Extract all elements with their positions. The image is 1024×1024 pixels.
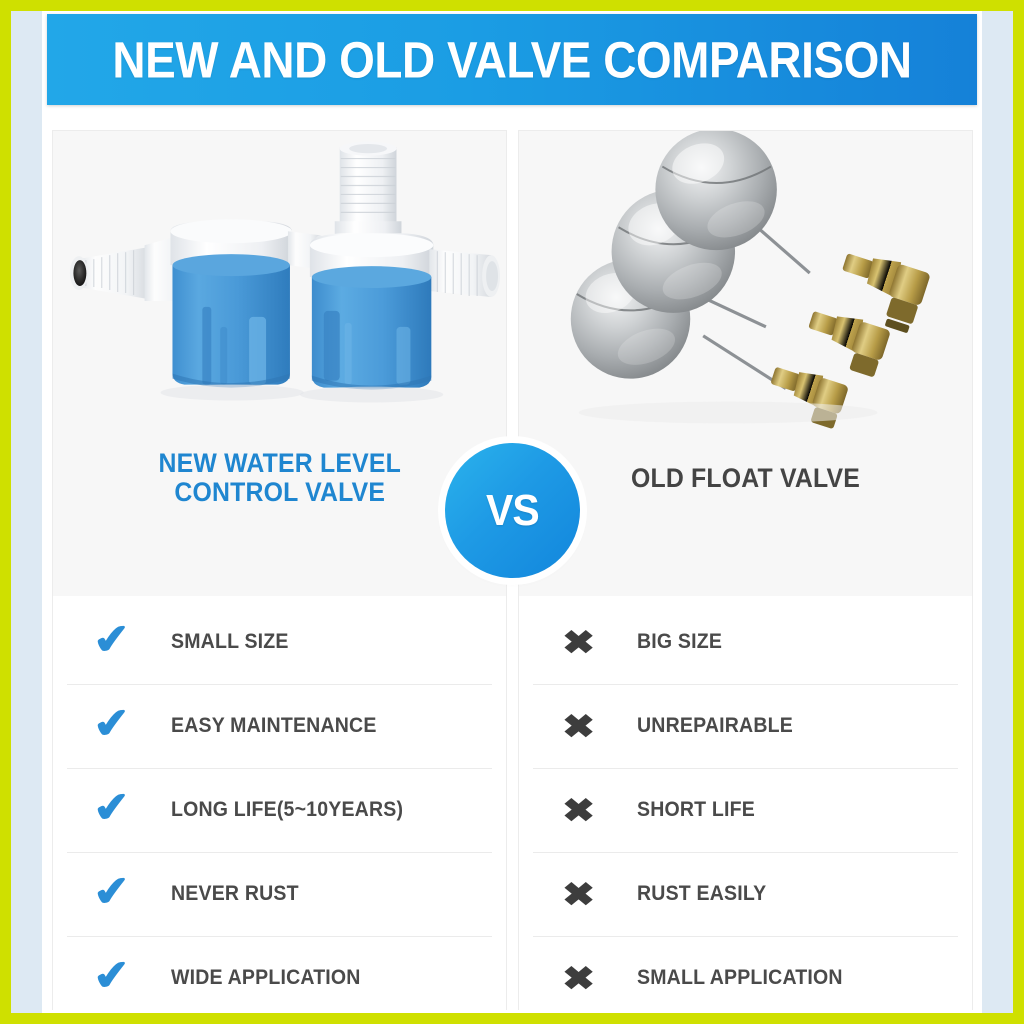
feature-row: ✔ NEVER RUST — [53, 852, 506, 936]
page-title-text: NEW AND OLD VALVE COMPARISON — [112, 34, 911, 85]
feature-row: ✔ WIDE APPLICATION — [53, 936, 506, 1010]
cross-icon: ✖ — [518, 878, 654, 911]
feature-label: SHORT LIFE — [637, 798, 764, 822]
panel-old-valve: OLD FLOAT VALVE ✖ BIG SIZE ✖ UNREPAIRABL… — [518, 130, 973, 1010]
cross-icon: ✖ — [518, 626, 654, 659]
valve-left — [70, 219, 327, 400]
new-valve-product-image — [53, 131, 506, 451]
inlet-opening — [73, 260, 86, 286]
feature-label: SMALL APPLICATION — [637, 966, 858, 990]
cross-icon: ✖ — [518, 794, 654, 827]
valve-right — [300, 142, 500, 403]
feature-label-text: SHORT LIFE — [637, 798, 755, 822]
feature-label-text: NEVER RUST — [171, 882, 299, 906]
feature-row: ✔ SMALL SIZE — [53, 600, 506, 684]
brass-valve-body — [800, 304, 892, 378]
old-valve-image-area — [519, 131, 972, 596]
check-icon: ✔ — [52, 865, 180, 919]
vs-badge-text: VS — [486, 486, 539, 536]
feature-label: EASY MAINTENANCE — [171, 714, 392, 738]
feature-row: ✔ EASY MAINTENANCE — [53, 684, 506, 768]
feature-row: ✖ BIG SIZE — [519, 600, 972, 684]
feature-label: LONG LIFE(5~10YEARS) — [171, 798, 421, 822]
cross-icon: ✖ — [518, 962, 654, 995]
check-icon: ✔ — [52, 781, 180, 835]
feature-label-text: RUST EASILY — [637, 882, 766, 906]
page-title: NEW AND OLD VALVE COMPARISON — [47, 34, 977, 85]
old-valve-product-image — [519, 131, 972, 451]
new-valve-label: NEW WATER LEVEL CONTROL VALVE — [53, 449, 506, 506]
feature-label: SMALL SIZE — [171, 630, 297, 654]
feature-label-text: WIDE APPLICATION — [171, 966, 361, 990]
feature-row: ✖ RUST EASILY — [519, 852, 972, 936]
feature-label: BIG SIZE — [637, 630, 728, 654]
feature-label-text: BIG SIZE — [637, 630, 722, 654]
feature-row: ✖ SHORT LIFE — [519, 768, 972, 852]
feature-label: UNREPAIRABLE — [637, 714, 805, 738]
new-valve-label-text: NEW WATER LEVEL CONTROL VALVE — [158, 449, 400, 506]
check-icon: ✔ — [52, 949, 180, 1003]
feature-label-text: SMALL APPLICATION — [637, 966, 843, 990]
feature-label: RUST EASILY — [637, 882, 776, 906]
old-valve-feature-list: ✖ BIG SIZE ✖ UNREPAIRABLE ✖ SHORT LIFE ✖… — [519, 596, 972, 1010]
feature-label: NEVER RUST — [171, 882, 308, 906]
feature-label-text: UNREPAIRABLE — [637, 714, 793, 738]
new-valve-feature-list: ✔ SMALL SIZE ✔ EASY MAINTENANCE ✔ LONG L… — [53, 596, 506, 1010]
feature-label-text: SMALL SIZE — [171, 630, 289, 654]
vs-badge-label: VS — [484, 486, 541, 536]
cross-icon: ✖ — [518, 710, 654, 743]
feature-row: ✖ SMALL APPLICATION — [519, 936, 972, 1010]
feature-row: ✖ UNREPAIRABLE — [519, 684, 972, 768]
panel-new-valve: NEW WATER LEVEL CONTROL VALVE ✔ SMALL SI… — [52, 130, 507, 1010]
header-bar: NEW AND OLD VALVE COMPARISON — [47, 14, 977, 105]
feature-label-text: LONG LIFE(5~10YEARS) — [171, 798, 403, 822]
feature-row: ✔ LONG LIFE(5~10YEARS) — [53, 768, 506, 852]
check-icon: ✔ — [52, 613, 180, 667]
float-ball — [655, 131, 776, 250]
vs-badge: VS — [445, 443, 580, 578]
feature-label: WIDE APPLICATION — [171, 966, 375, 990]
check-icon: ✔ — [52, 697, 180, 751]
old-valve-label: OLD FLOAT VALVE — [519, 464, 972, 493]
old-valve-label-text: OLD FLOAT VALVE — [631, 464, 860, 493]
feature-label-text: EASY MAINTENANCE — [171, 714, 377, 738]
new-valve-image-area — [53, 131, 506, 596]
